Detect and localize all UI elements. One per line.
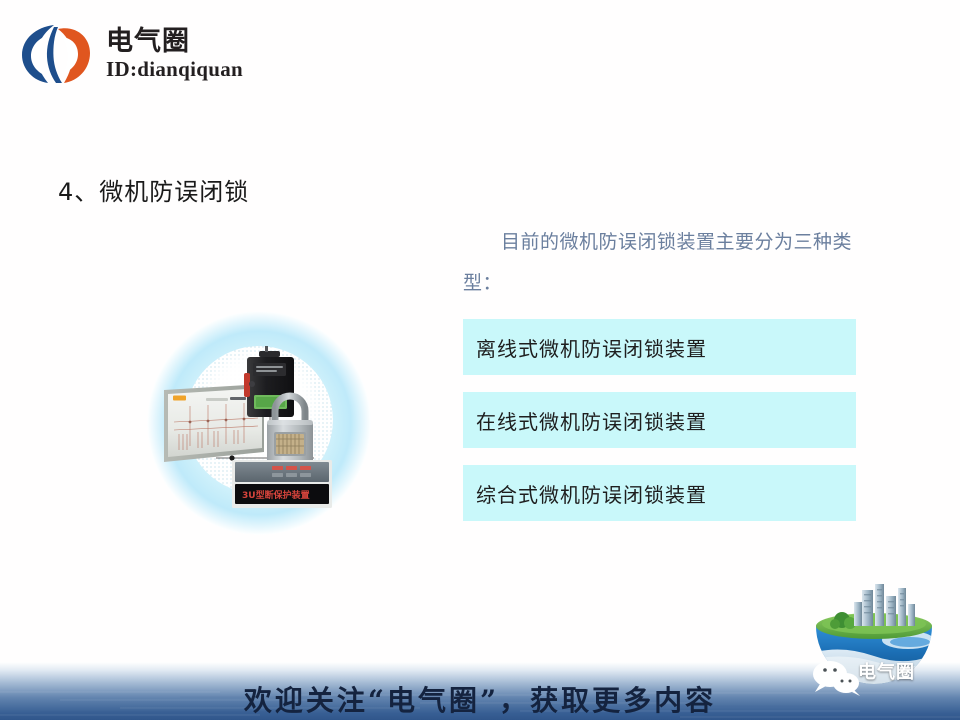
badge-label: 电气圈 — [858, 658, 915, 684]
intro-paragraph: 目前的微机防误闭锁装置主要分为三种类型： — [463, 222, 863, 304]
section-heading: 4、微机防误闭锁 — [58, 172, 249, 207]
brand-name: 电气圈 — [106, 28, 243, 55]
device-type-label: 离线式微机防误闭锁装置 — [476, 333, 707, 362]
dianqiquan-logo-icon — [18, 23, 96, 85]
brand-id: ID:dianqiquan — [106, 59, 243, 80]
brand-text-block: 电气圈 ID:dianqiquan — [106, 28, 243, 80]
slide-canvas: 电气圈 ID:dianqiquan 4、微机防误闭锁 目前的微机防误闭锁装置主要… — [0, 0, 960, 720]
microcomputer-anti-misoperation-device-photo: 3U型断保护装置 — [146, 310, 372, 536]
svg-text:3U型断保护装置: 3U型断保护装置 — [242, 489, 310, 501]
device-type-box-integrated[interactable]: 综合式微机防误闭锁装置 — [463, 465, 856, 521]
device-type-list: 离线式微机防误闭锁装置 在线式微机防误闭锁装置 综合式微机防误闭锁装置 — [463, 319, 856, 538]
brand-header: 电气圈 ID:dianqiquan — [18, 16, 348, 91]
wechat-earth-badge-icon: 电气圈 — [790, 582, 958, 712]
device-type-box-online[interactable]: 在线式微机防误闭锁装置 — [463, 392, 856, 448]
device-type-box-offline[interactable]: 离线式微机防误闭锁装置 — [463, 319, 856, 375]
device-type-label: 在线式微机防误闭锁装置 — [476, 406, 707, 435]
device-type-label: 综合式微机防误闭锁装置 — [476, 479, 707, 508]
